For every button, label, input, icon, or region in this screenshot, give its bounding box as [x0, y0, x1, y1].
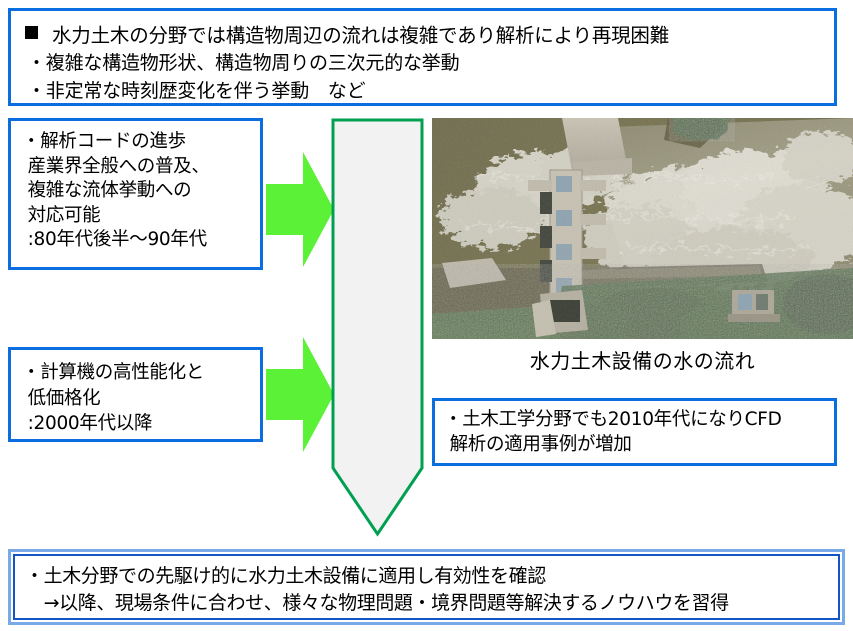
top-headline: 水力土木の分野では構造物周辺の流れは複雑であり解析により再現困難	[52, 19, 669, 48]
green-right-arrow-upper-icon	[266, 152, 334, 267]
left-box-analysis-code: ・解析コードの進歩 産業界全般への普及、 複雑な流体挙動への 対応可能 :80年…	[8, 118, 263, 270]
left-box-computer-performance: ・計算機の高性能化と 低価格化 :2000年代以降	[8, 347, 263, 442]
gray-down-arrow-icon	[331, 118, 424, 537]
green-right-arrow-lower-icon	[266, 337, 334, 452]
black-square-bullet-icon	[25, 26, 38, 39]
bottom-box-text: ・土木分野での先駆け的に水力土木設備に適用し有効性を確認 →以降、現場条件に合わ…	[15, 556, 838, 617]
right-box-text: ・土木工学分野でも2010年代になりCFD 解析の適用事例が増加	[435, 401, 834, 458]
top-sub-lines: ・複雑な構造物形状、構造物周りの三次元的な挙動 ・非定常な時刻歴変化を伴う挙動 …	[27, 50, 834, 105]
photo-caption: 水力土木設備の水の流れ	[432, 345, 853, 374]
top-statement-box: 水力土木の分野では構造物周辺の流れは複雑であり解析により再現困難 ・複雑な構造物…	[8, 8, 837, 106]
aerial-dam-photo	[432, 118, 853, 339]
left-box-2-text: ・計算機の高性能化と 低価格化 :2000年代以降	[11, 350, 260, 437]
top-box-inner: 水力土木の分野では構造物周辺の流れは複雑であり解析により再現困難 ・複雑な構造物…	[11, 11, 834, 105]
bottom-conclusion-box: ・土木分野での先駆け的に水力土木設備に適用し有効性を確認 →以降、現場条件に合わ…	[8, 549, 845, 625]
left-box-1-text: ・解析コードの進歩 産業界全般への普及、 複雑な流体挙動への 対応可能 :80年…	[11, 121, 260, 253]
right-box-cfd-adoption: ・土木工学分野でも2010年代になりCFD 解析の適用事例が増加	[432, 398, 837, 466]
bottom-box-inner-frame: ・土木分野での先駆け的に水力土木設備に適用し有効性を確認 →以降、現場条件に合わ…	[13, 554, 840, 620]
headline-row: 水力土木の分野では構造物周辺の流れは複雑であり解析により再現困難	[21, 19, 834, 48]
